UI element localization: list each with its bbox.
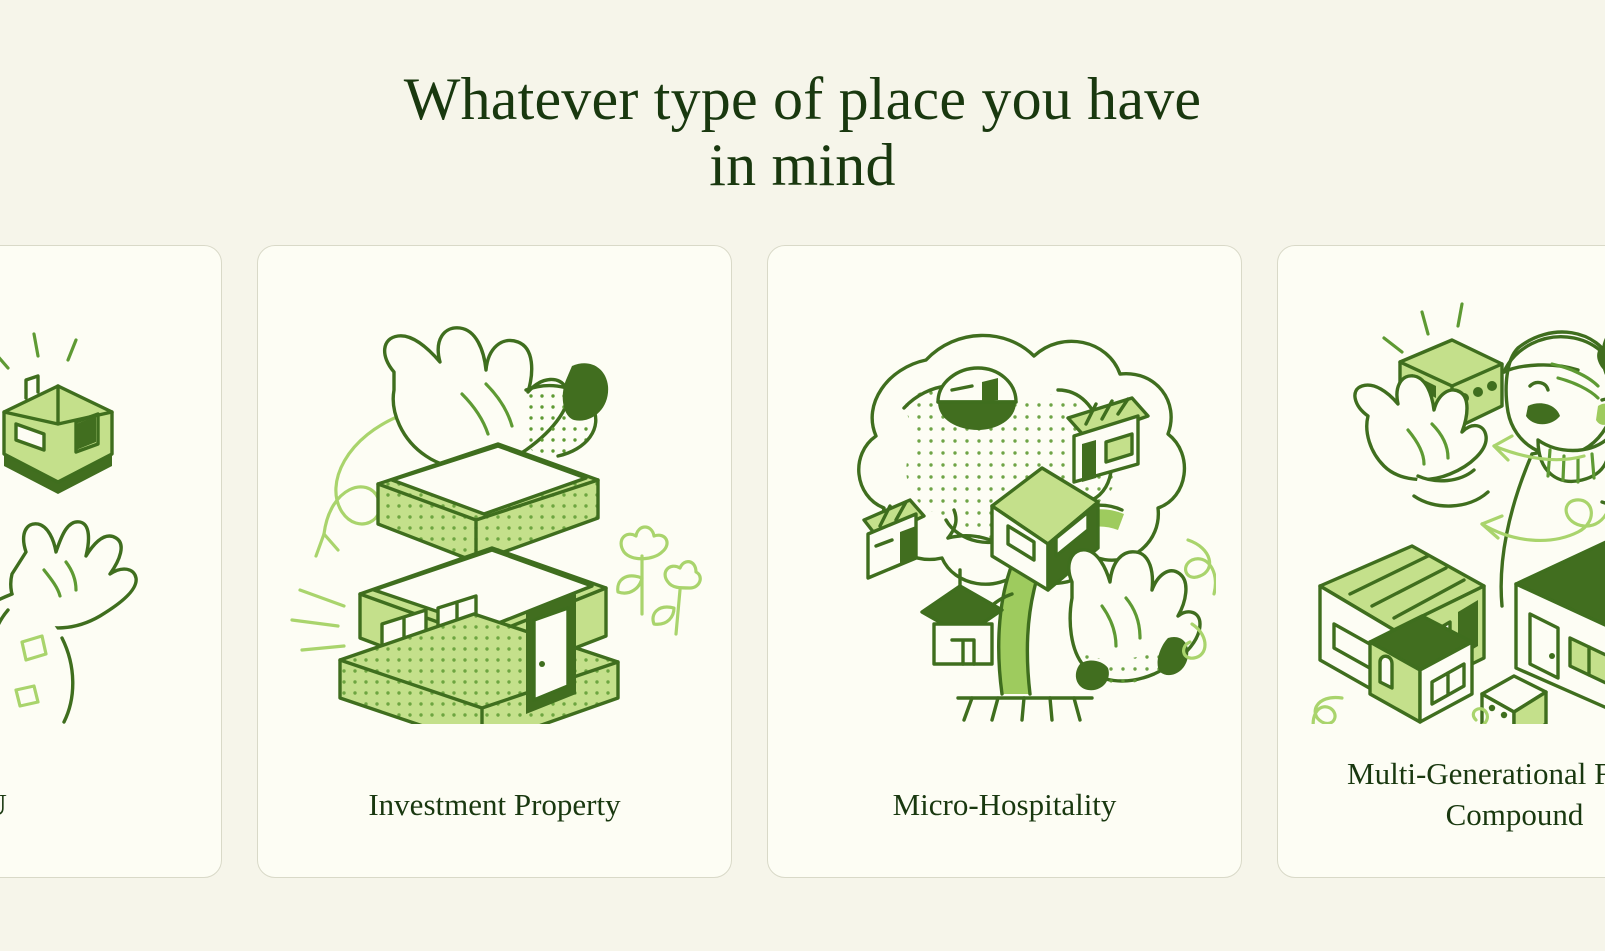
person-holding-house-above-compound-illustration (1278, 274, 1605, 744)
property-type-card-adu[interactable]: DU (0, 245, 222, 878)
property-type-carousel[interactable]: DU (0, 245, 1605, 878)
property-type-card-micro-hospitality[interactable]: Micro-Hospitality (767, 245, 1242, 878)
page-title-line-2: in mind (0, 132, 1605, 198)
card-label-line-1: Multi-Generational Family (1347, 756, 1605, 791)
page-title-line-1: Whatever type of place you have (0, 66, 1605, 132)
property-type-card-label: Micro-Hospitality (794, 784, 1215, 825)
property-type-card-investment-property[interactable]: Investment Property (257, 245, 732, 878)
stacked-modular-units-with-hand-illustration (258, 274, 732, 744)
tree-with-treehouses-and-hand-illustration (768, 274, 1242, 744)
card-label-line-2: Compound (1446, 797, 1584, 832)
person-tossing-house-illustration (0, 274, 222, 744)
property-type-card-multi-generational-family-compound[interactable]: Multi-Generational Family Compound (1277, 245, 1605, 878)
page-title: Whatever type of place you have in mind (0, 66, 1605, 198)
property-type-card-label: DU (0, 784, 195, 825)
property-type-card-label: Multi-Generational Family Compound (1304, 753, 1605, 835)
property-type-card-label: Investment Property (284, 784, 705, 825)
